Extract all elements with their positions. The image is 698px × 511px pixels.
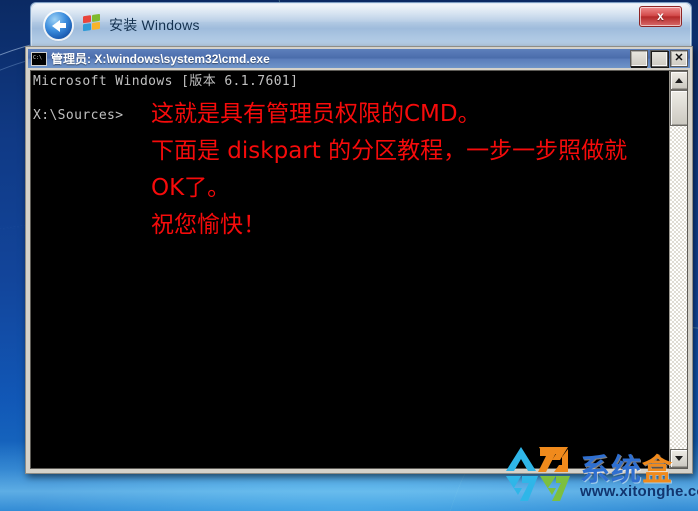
windows-setup-window: 安装 Windows x	[30, 2, 692, 47]
setup-close-button[interactable]: x	[639, 6, 682, 27]
cmd-vertical-scrollbar[interactable]	[669, 71, 687, 468]
windows-flag-icon	[83, 14, 101, 34]
watermark-url: www.xitonghe.com	[580, 483, 698, 500]
cmd-maximize-button[interactable]	[650, 50, 668, 67]
console-prompt-row: X:\Sources> 这就是具有管理员权限的CMD。 下面是 diskpart…	[33, 104, 670, 134]
annotation-line-2: 下面是 diskpart 的分区教程，一步一步照做就	[151, 133, 681, 170]
screenshot-root: 安装 Windows x 管理员: X:\windows\system32\cm…	[0, 0, 698, 511]
cmd-close-button[interactable]: ✕	[670, 50, 688, 67]
console-version-line: Microsoft Windows [版本 6.1.7601]	[33, 74, 670, 90]
maximize-icon	[651, 51, 669, 68]
cmd-window: 管理员: X:\windows\system32\cmd.exe ✕ Micro…	[25, 46, 693, 474]
site-watermark: 系统盒 www.xitonghe.com	[496, 443, 692, 507]
back-arrow-icon	[52, 20, 60, 32]
xitonghe-logo-icon	[502, 445, 576, 503]
annotation-overlay: 这就是具有管理员权限的CMD。 下面是 diskpart 的分区教程，一步一步照…	[151, 96, 681, 244]
scroll-up-button[interactable]	[670, 71, 688, 90]
cmd-minimize-button[interactable]	[630, 50, 648, 67]
console-prompt: X:\Sources>	[33, 108, 124, 124]
scroll-up-icon	[675, 78, 683, 83]
back-button[interactable]	[45, 12, 72, 39]
close-icon: x	[640, 7, 681, 26]
cmd-window-controls: ✕	[630, 50, 690, 67]
cmd-titlebar[interactable]: 管理员: X:\windows\system32\cmd.exe ✕	[28, 49, 690, 68]
close-icon: ✕	[671, 51, 687, 66]
minimize-icon	[631, 51, 647, 68]
scrollbar-thumb[interactable]	[670, 90, 688, 126]
annotation-line-1: 这就是具有管理员权限的CMD。	[151, 96, 681, 133]
console-icon	[31, 52, 47, 66]
annotation-line-3: OK了。	[151, 170, 681, 207]
annotation-line-4: 祝您愉快！	[151, 207, 681, 244]
setup-window-title: 安装 Windows	[109, 15, 200, 35]
cmd-title: 管理员: X:\windows\system32\cmd.exe	[51, 50, 270, 67]
cmd-client-area: Microsoft Windows [版本 6.1.7601] X:\Sourc…	[30, 70, 688, 469]
console-output[interactable]: Microsoft Windows [版本 6.1.7601] X:\Sourc…	[31, 71, 670, 468]
